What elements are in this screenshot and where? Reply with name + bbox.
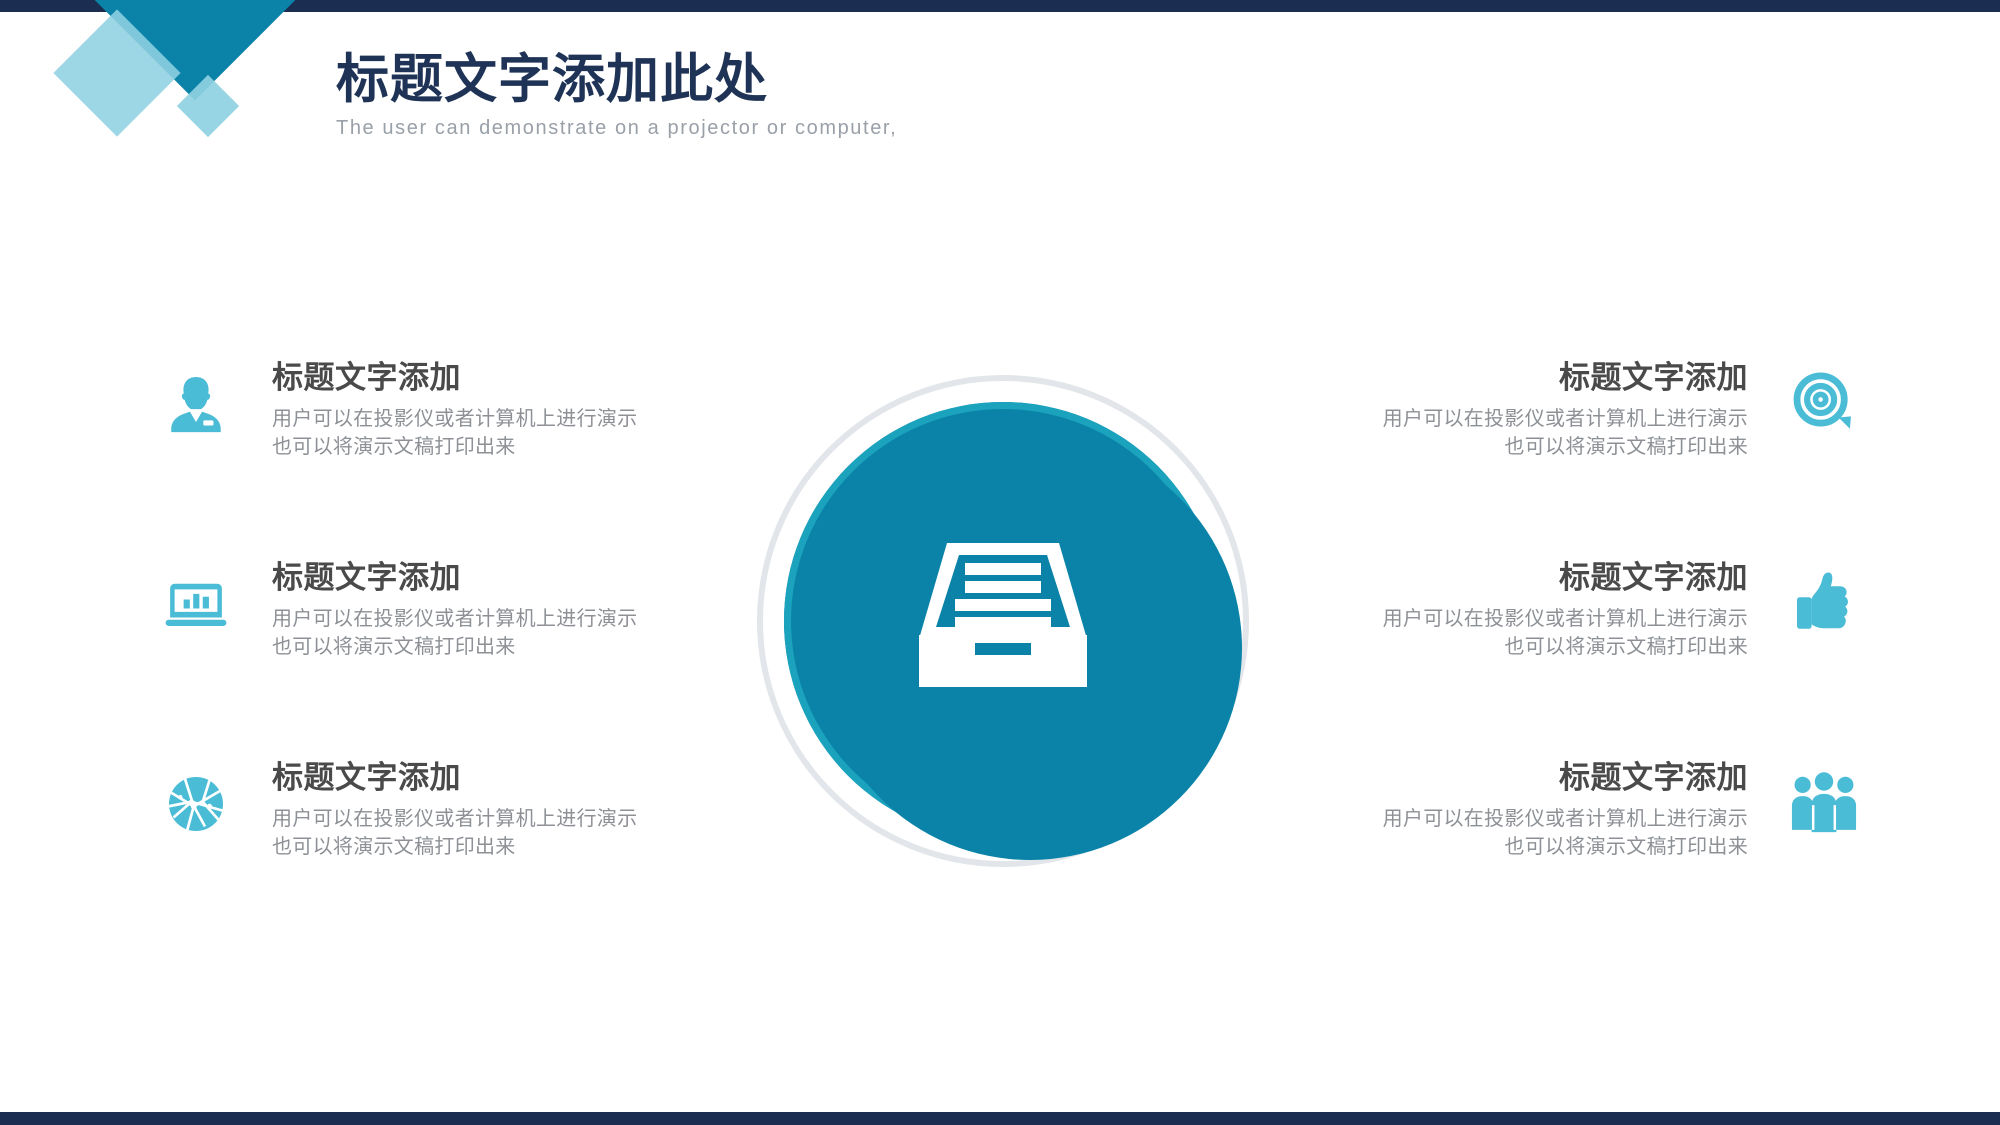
feature-desc-line-2: 也可以将演示文稿打印出来 [272,833,720,861]
feature-item-right-1[interactable]: 标题文字添加 用户可以在投影仪或者计算机上进行演示 也可以将演示文稿打印出来 [1300,360,1860,560]
feature-desc-line-2: 也可以将演示文稿打印出来 [1300,433,1748,461]
feature-description: 用户可以在投影仪或者计算机上进行演示 也可以将演示文稿打印出来 [272,405,720,462]
feature-column-left: 标题文字添加 用户可以在投影仪或者计算机上进行演示 也可以将演示文稿打印出来 [160,360,720,960]
feature-item-right-2[interactable]: 标题文字添加 用户可以在投影仪或者计算机上进行演示 也可以将演示文稿打印出来 [1300,560,1860,760]
feature-desc-line-2: 也可以将演示文稿打印出来 [1300,833,1748,861]
feature-text-right-2: 标题文字添加 用户可以在投影仪或者计算机上进行演示 也可以将演示文稿打印出来 [1300,560,1748,661]
feature-item-left-3[interactable]: 标题文字添加 用户可以在投影仪或者计算机上进行演示 也可以将演示文稿打印出来 [160,760,720,960]
feature-description: 用户可以在投影仪或者计算机上进行演示 也可以将演示文稿打印出来 [272,805,720,862]
feature-title: 标题文字添加 [272,360,720,397]
slide-canvas: 标题文字添加此处 The user can demonstrate on a p… [0,0,2000,1125]
feature-desc-line-1: 用户可以在投影仪或者计算机上进行演示 [1300,805,1748,833]
feature-title: 标题文字添加 [1300,760,1748,797]
feature-title: 标题文字添加 [272,560,720,597]
feature-text-left-1: 标题文字添加 用户可以在投影仪或者计算机上进行演示 也可以将演示文稿打印出来 [272,360,720,461]
businessman-icon [160,368,232,440]
feature-description: 用户可以在投影仪或者计算机上进行演示 也可以将演示文稿打印出来 [1300,605,1748,662]
feature-desc-line-1: 用户可以在投影仪或者计算机上进行演示 [272,405,720,433]
feature-description: 用户可以在投影仪或者计算机上进行演示 也可以将演示文稿打印出来 [272,605,720,662]
feature-title: 标题文字添加 [1300,560,1748,597]
feature-item-right-3[interactable]: 标题文字添加 用户可以在投影仪或者计算机上进行演示 也可以将演示文稿打印出来 [1300,760,1860,960]
feature-title: 标题文字添加 [272,760,720,797]
feature-item-left-2[interactable]: 标题文字添加 用户可以在投影仪或者计算机上进行演示 也可以将演示文稿打印出来 [160,560,720,760]
light-diamond-shape [53,9,180,136]
feature-text-left-3: 标题文字添加 用户可以在投影仪或者计算机上进行演示 也可以将演示文稿打印出来 [272,760,720,861]
feature-desc-line-2: 也可以将演示文稿打印出来 [272,633,720,661]
feature-desc-line-1: 用户可以在投影仪或者计算机上进行演示 [1300,405,1748,433]
feature-column-right: 标题文字添加 用户可以在投影仪或者计算机上进行演示 也可以将演示文稿打印出来 标… [1300,360,1860,960]
large-diamond-shape [44,0,347,100]
feature-text-right-1: 标题文字添加 用户可以在投影仪或者计算机上进行演示 也可以将演示文稿打印出来 [1300,360,1748,461]
feature-text-left-2: 标题文字添加 用户可以在投影仪或者计算机上进行演示 也可以将演示文稿打印出来 [272,560,720,661]
archive-box-icon [903,515,1103,715]
feature-desc-line-1: 用户可以在投影仪或者计算机上进行演示 [272,805,720,833]
feature-description: 用户可以在投影仪或者计算机上进行演示 也可以将演示文稿打印出来 [1300,805,1748,862]
laptop-chart-icon [160,568,232,640]
page-title: 标题文字添加此处 [336,52,897,108]
globe-network-icon [160,768,232,840]
slide-header: 标题文字添加此处 The user can demonstrate on a p… [336,52,897,140]
thumbs-up-icon [1788,568,1860,640]
feature-item-left-1[interactable]: 标题文字添加 用户可以在投影仪或者计算机上进行演示 也可以将演示文稿打印出来 [160,360,720,560]
feature-desc-line-1: 用户可以在投影仪或者计算机上进行演示 [1300,605,1748,633]
feature-text-right-3: 标题文字添加 用户可以在投影仪或者计算机上进行演示 也可以将演示文稿打印出来 [1300,760,1748,861]
bottom-accent-bar [0,1112,2000,1125]
feature-description: 用户可以在投影仪或者计算机上进行演示 也可以将演示文稿打印出来 [1300,405,1748,462]
center-medallion [757,375,1249,867]
small-diamond-shape [177,75,239,137]
feature-title: 标题文字添加 [1300,360,1748,397]
page-subtitle: The user can demonstrate on a projector … [336,117,897,140]
feature-desc-line-1: 用户可以在投影仪或者计算机上进行演示 [272,605,720,633]
target-arrow-icon [1788,368,1860,440]
people-group-icon [1788,768,1860,840]
feature-desc-line-2: 也可以将演示文稿打印出来 [272,433,720,461]
feature-desc-line-2: 也可以将演示文稿打印出来 [1300,633,1748,661]
top-accent-bar [0,0,2000,12]
